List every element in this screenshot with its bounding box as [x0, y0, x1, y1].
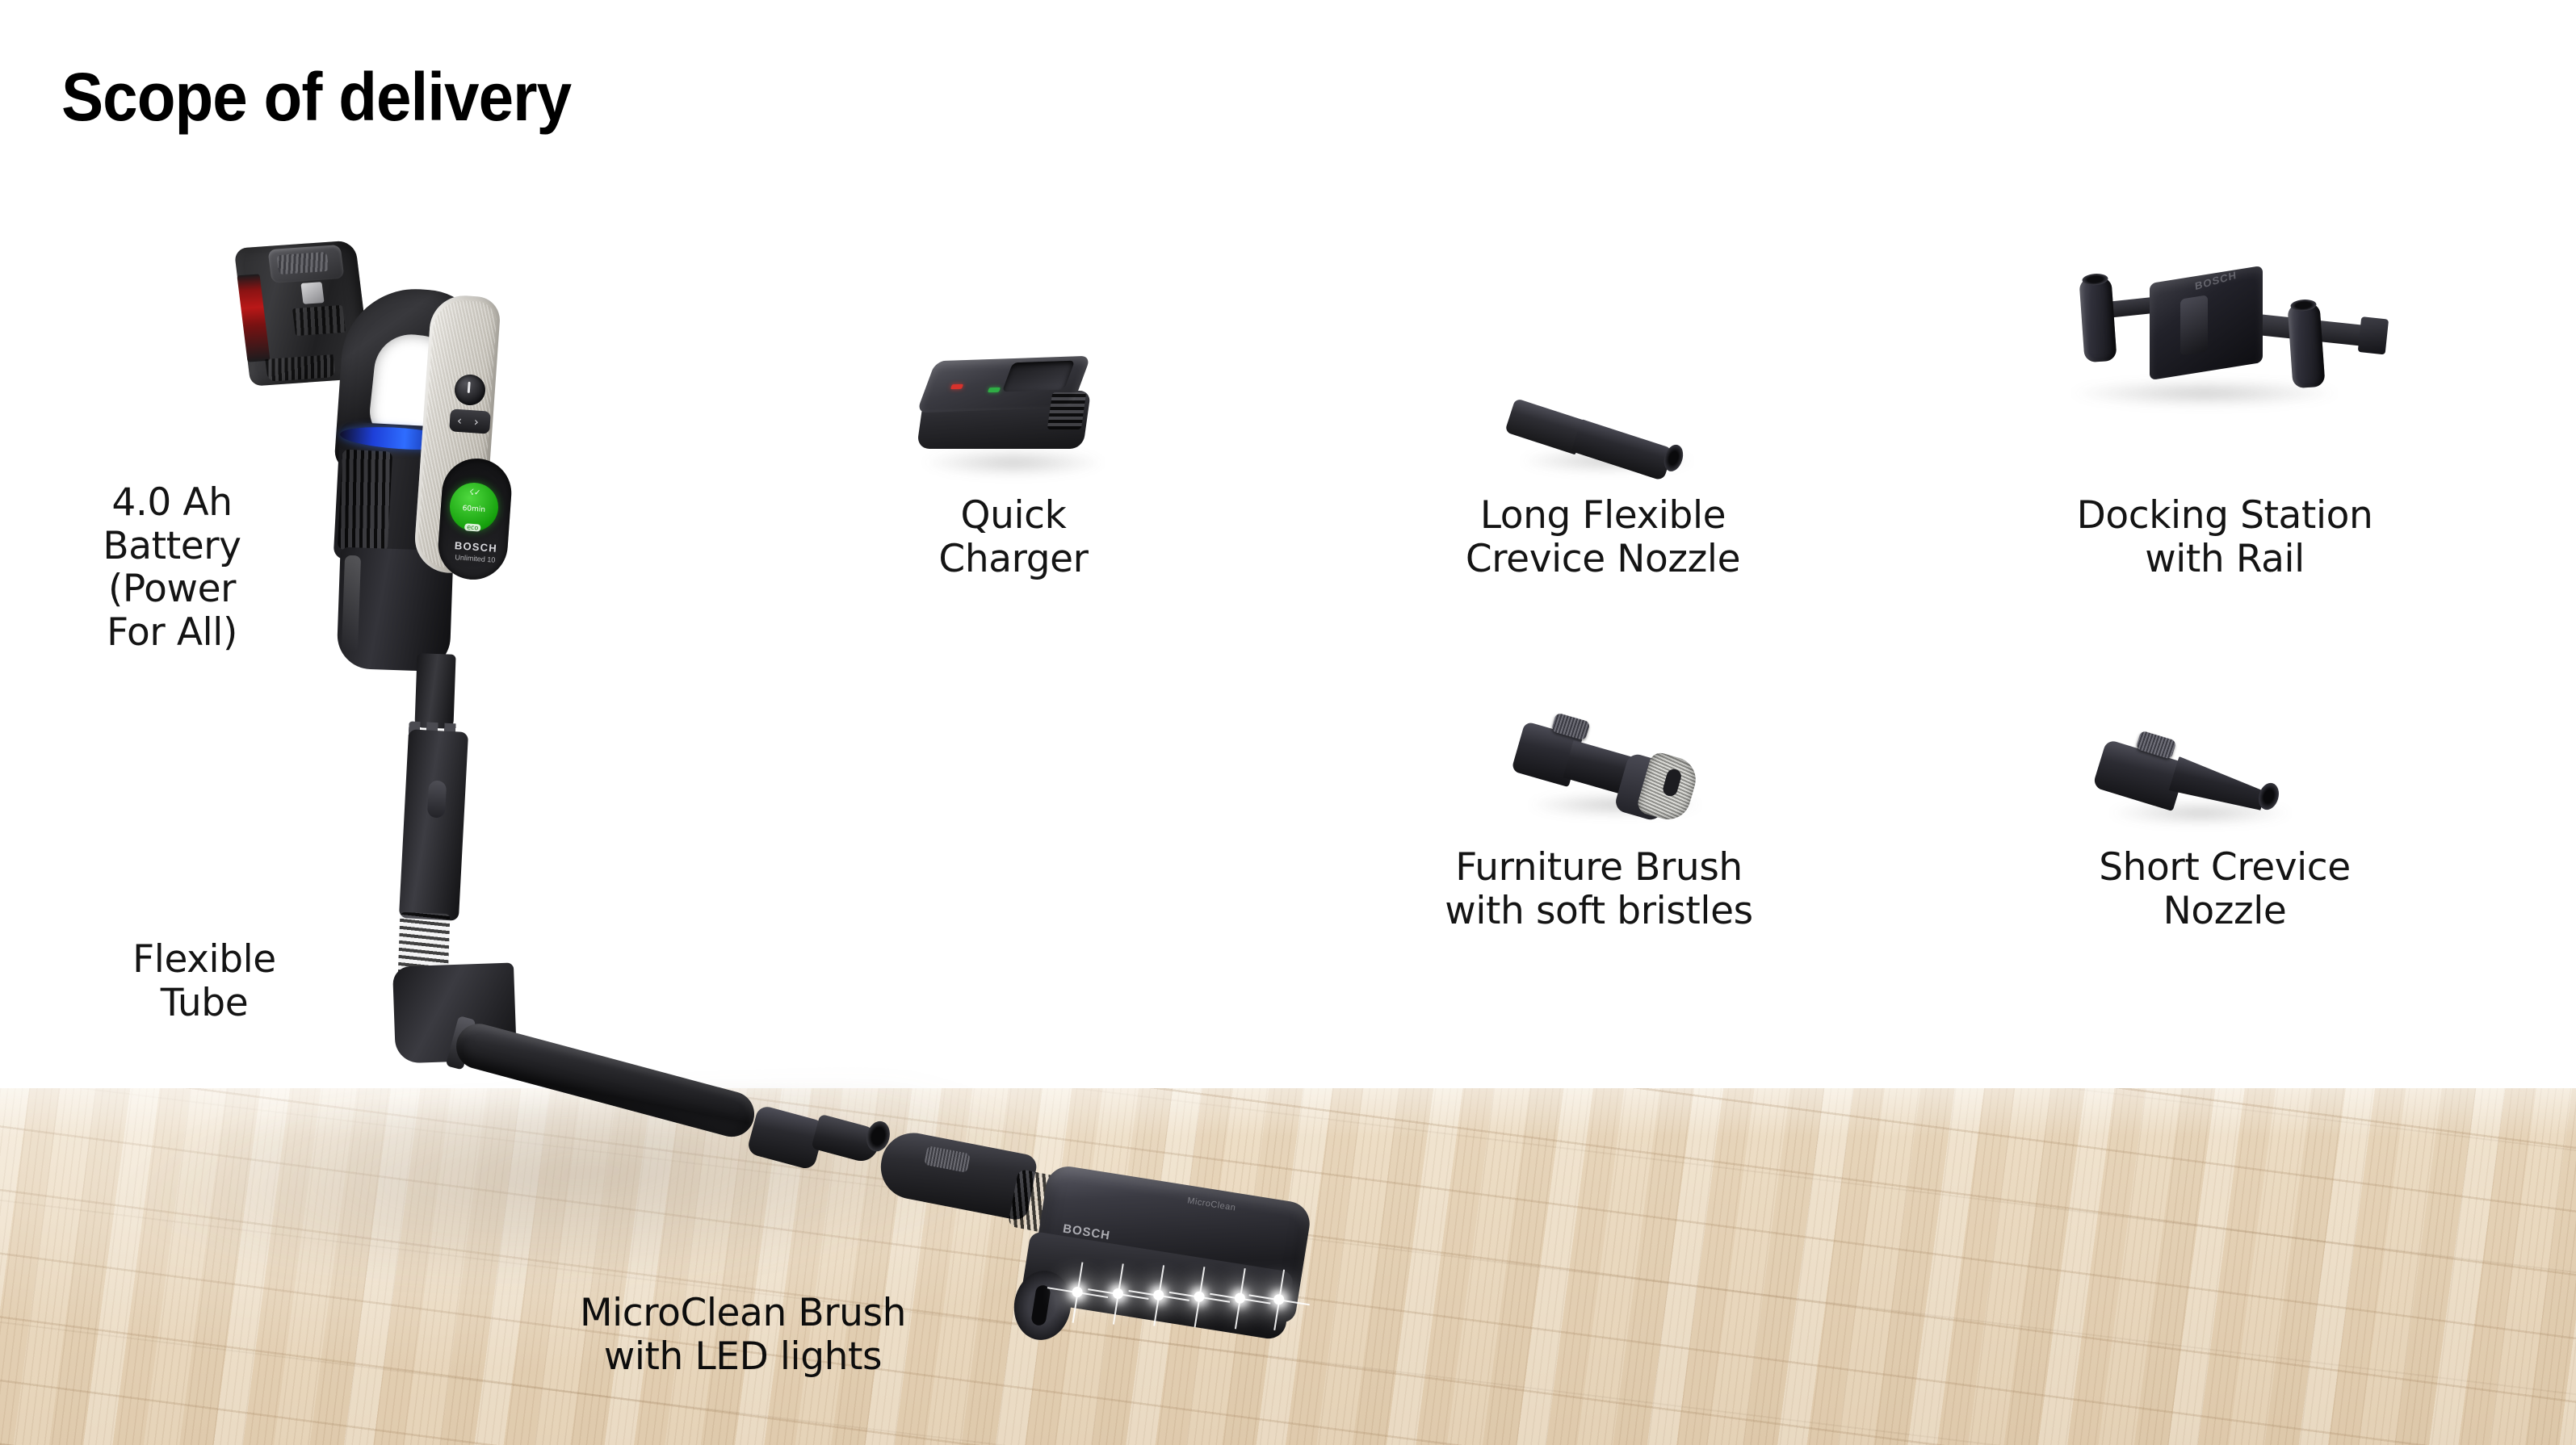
caption-battery: 4.0 Ah Battery (Power For All) — [71, 481, 273, 654]
charger-battery-slot — [1002, 361, 1075, 392]
caption-quick-charger: Quick Charger — [856, 494, 1171, 580]
led-light — [1194, 1291, 1206, 1303]
led-light — [1072, 1286, 1084, 1298]
caption-microclean-brush: MicroClean Brush with LED lights — [533, 1292, 953, 1378]
vacuum-dust-container-highlight — [342, 555, 361, 653]
caption-docking-station: Docking Station with Rail — [2011, 494, 2439, 580]
led-light — [1152, 1289, 1164, 1301]
dock-rail-end-bracket — [2358, 316, 2389, 354]
runtime-value: 60min — [449, 496, 499, 519]
caption-long-crevice-nozzle: Long Flexible Crevice Nozzle — [1389, 494, 1817, 580]
infographic-canvas: Scope of delivery 4.0 Ah Battery (Power … — [0, 0, 2576, 1445]
vacuum-branding: BOSCH Unlimited 10 — [443, 538, 509, 565]
charger-vents — [1047, 392, 1086, 429]
tube-upper-section — [399, 729, 468, 921]
dock-accessory-tube-right — [2287, 303, 2325, 389]
caption-furniture-brush: Furniture Brush with soft bristles — [1373, 846, 1825, 932]
vacuum-outlet-port — [414, 653, 455, 729]
led-light — [1112, 1288, 1124, 1300]
runtime-unit: min — [472, 505, 486, 514]
long-crevice-nozzle-image — [1510, 379, 1696, 468]
led-light — [1234, 1292, 1246, 1305]
runtime-indicator: ☇✓ 60min eco — [448, 481, 500, 533]
page-title: Scope of delivery — [61, 58, 571, 136]
stick-vacuum-image: ‹ › ☇✓ 60min eco BOSCH Unlimited 10 — [319, 289, 537, 725]
eco-mode-badge: eco — [464, 523, 481, 531]
battery-grill — [277, 252, 329, 274]
caption-short-crevice-nozzle: Short Crevice Nozzle — [2011, 846, 2439, 932]
flexible-tube-image — [380, 731, 961, 1102]
dock-vacuum-hook — [2180, 295, 2208, 355]
short-crevice-nozzle-image — [2100, 718, 2301, 815]
tube-release-button[interactable] — [427, 780, 447, 818]
quick-charger-image — [913, 355, 1114, 468]
short-nozzle-taper — [2169, 756, 2269, 818]
vacuum-cooling-fins — [338, 449, 392, 551]
mode-arrows-button[interactable]: ‹ › — [449, 408, 491, 433]
dock-accessory-tube-left — [2079, 277, 2117, 363]
caption-flexible-tube: Flexible Tube — [103, 938, 305, 1024]
furniture-brush-image — [1518, 702, 1704, 807]
docking-station-image: BOSCH — [2051, 266, 2390, 387]
